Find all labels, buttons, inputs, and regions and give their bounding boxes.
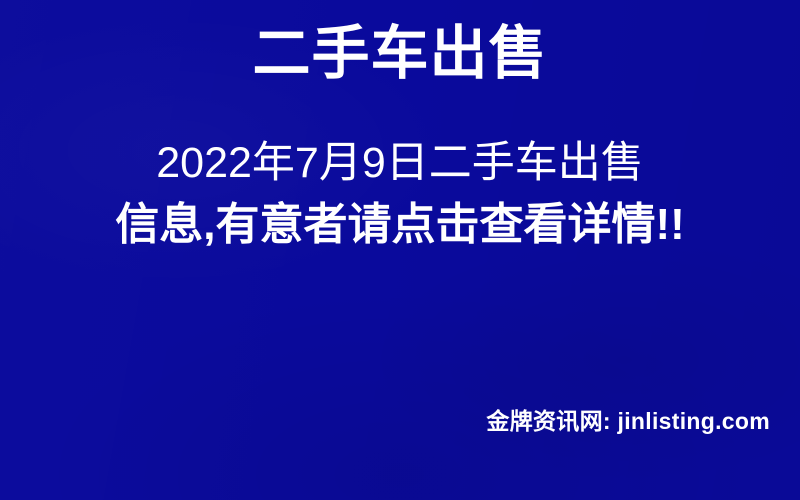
announcement-line-1: 2022年7月9日二手车出售 <box>0 136 800 191</box>
page-title: 二手车出售 <box>0 22 800 86</box>
announcement-body: 2022年7月9日二手车出售 信息,有意者请点击查看详情!! <box>0 136 800 253</box>
poster-canvas: 二手车出售 2022年7月9日二手车出售 信息,有意者请点击查看详情!! 金牌资… <box>0 0 800 500</box>
announcement-line-2: 信息,有意者请点击查看详情!! <box>0 197 800 253</box>
site-watermark: 金牌资讯网: jinlisting.com <box>486 402 770 436</box>
